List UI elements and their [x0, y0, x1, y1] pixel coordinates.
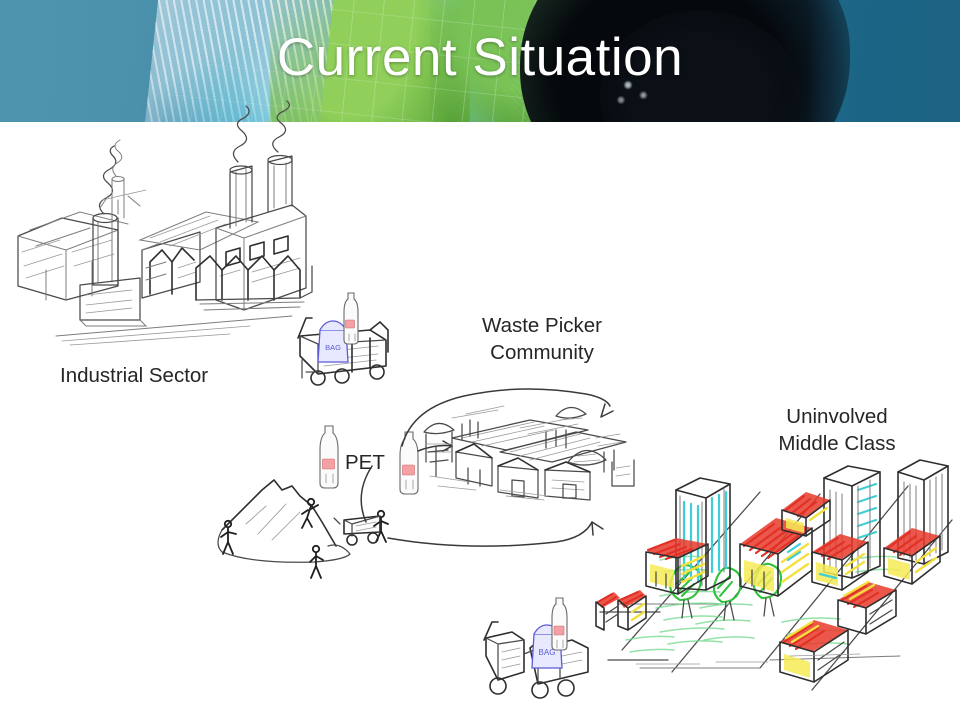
- tree-icon-2: [714, 568, 741, 620]
- label-middle-class-line1: Uninvolved: [772, 403, 902, 430]
- tree-icon-3: [754, 564, 781, 616]
- bag-label-2: BAG: [539, 648, 556, 657]
- pet-bottle-left: [320, 426, 338, 488]
- glass-tower-2: [824, 466, 880, 578]
- waste-mountain-sketch: [218, 480, 388, 578]
- factory-buildings-sketch: [18, 101, 312, 345]
- label-pet: PET: [345, 449, 385, 476]
- flow-arrows: [361, 389, 613, 546]
- low-building-1: [780, 620, 848, 682]
- page-title: Current Situation: [0, 28, 960, 88]
- shanty-town-sketch: [424, 406, 634, 500]
- slide-canvas: Current Situation: [0, 0, 960, 720]
- house-5: [884, 528, 940, 584]
- stick-figure-picker-4: [374, 511, 388, 542]
- stick-figure-picker-2: [302, 499, 318, 528]
- suburban-city-sketch: [596, 460, 952, 690]
- slide-header-banner: Current Situation: [0, 0, 960, 122]
- label-waste-picker-line2: Community: [477, 339, 607, 366]
- low-building-2: [838, 582, 896, 634]
- handcart-sketch-1: BAG: [298, 293, 388, 385]
- label-waste-picker-community: Waste Picker Community: [477, 312, 607, 366]
- house-2: [740, 518, 812, 596]
- label-middle-class-line2: Middle Class: [772, 430, 902, 457]
- low-building-3: [596, 592, 620, 630]
- glass-tower-3: [898, 460, 948, 564]
- glass-tower-1: [676, 478, 730, 590]
- tree-icon-1: [670, 565, 701, 618]
- house-4: [782, 492, 830, 536]
- label-industrial-sector: Industrial Sector: [60, 362, 208, 389]
- house-3: [812, 534, 868, 590]
- label-waste-picker-line1: Waste Picker: [477, 312, 607, 339]
- stick-figure-picker-1: [221, 521, 236, 554]
- house-6: [618, 590, 646, 630]
- house-1: [646, 538, 708, 594]
- pet-bottle-right: [400, 432, 418, 494]
- stick-figure-picker-3: [310, 546, 323, 578]
- bag-label-1: BAG: [325, 343, 341, 352]
- handcart-sketch-2: BAG: [484, 598, 588, 698]
- label-uninvolved-middle-class: Uninvolved Middle Class: [772, 403, 902, 457]
